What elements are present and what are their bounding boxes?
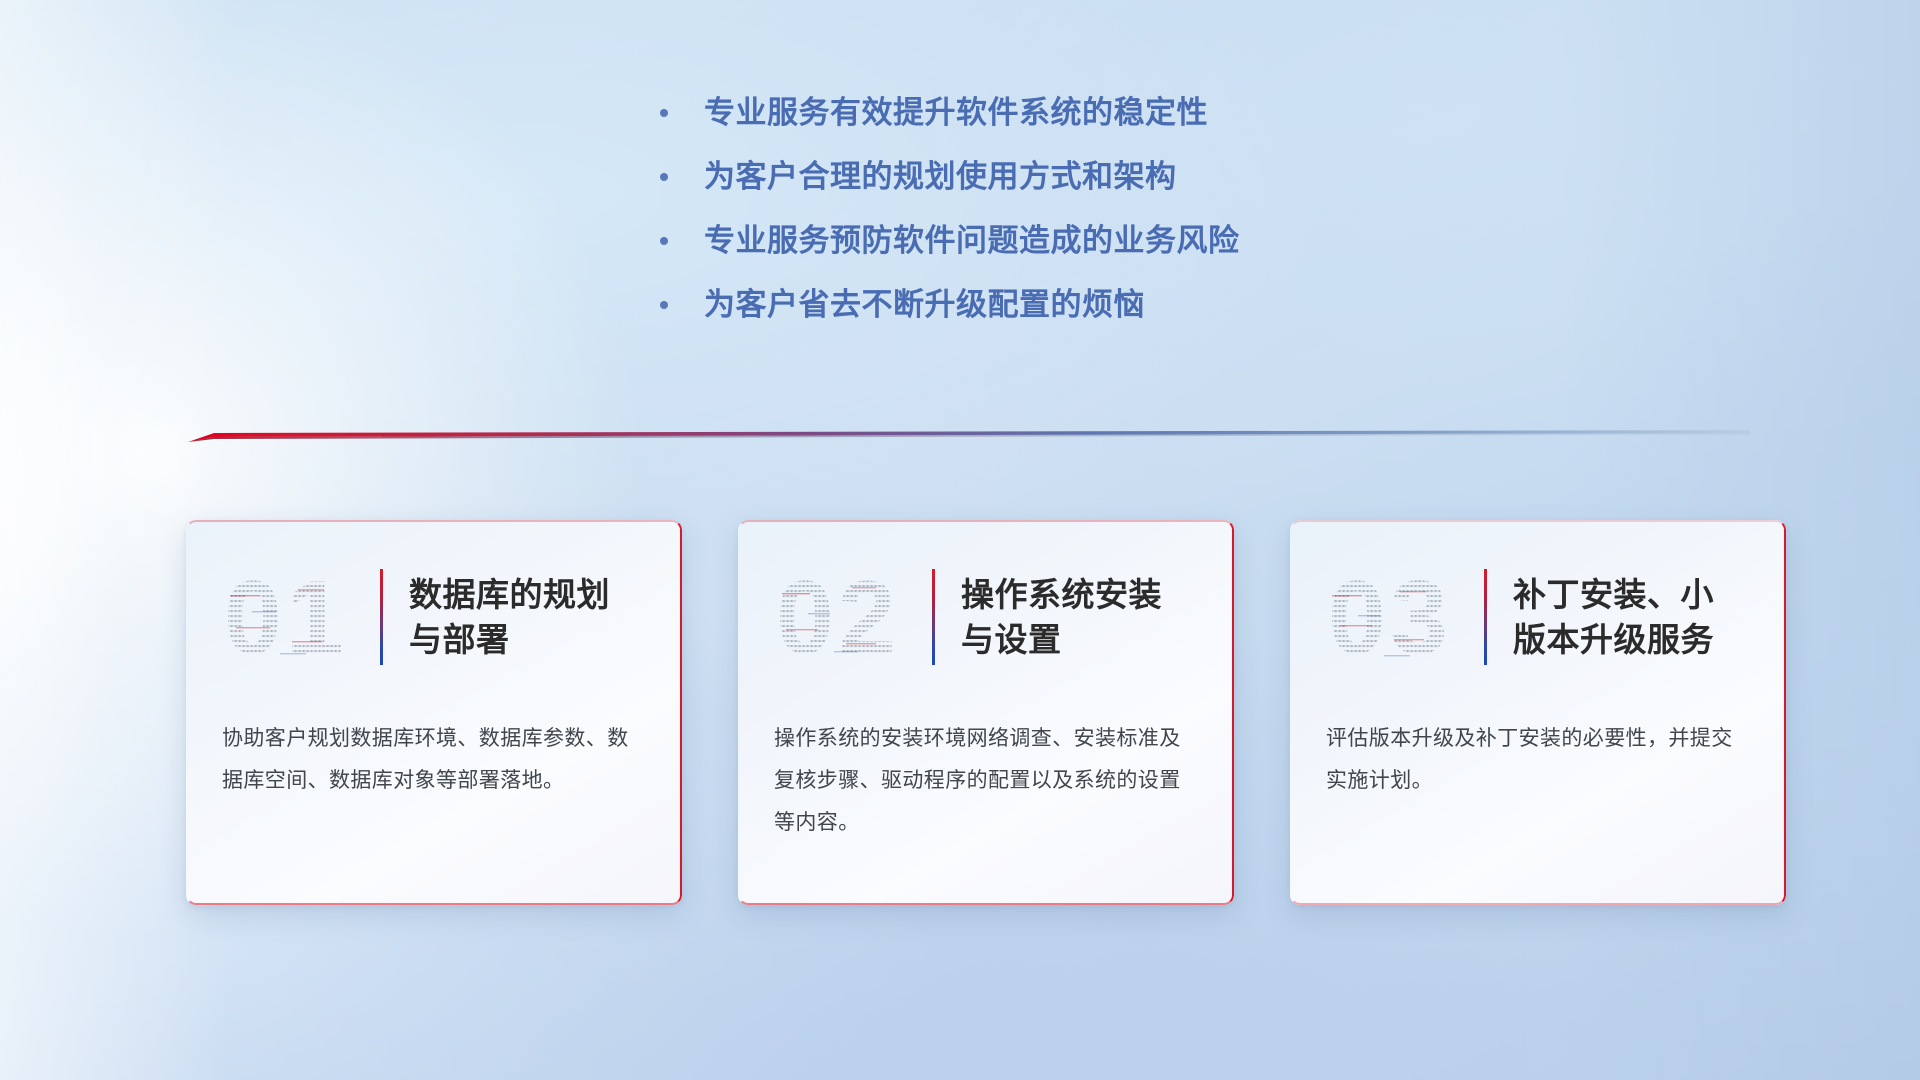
bullet-list: 专业服务有效提升软件系统的稳定性 为客户合理的规划使用方式和架构 专业服务预防软…	[660, 92, 1240, 348]
section-divider	[188, 428, 1750, 448]
feature-card-01[interactable]: 01 数据库的规划 与部署 协助客户规划数据库环境、数据库参数、数据库空间、数据…	[186, 520, 682, 905]
card-accent-bar	[1484, 569, 1487, 665]
divider-wedge-icon	[188, 428, 1750, 448]
card-title: 补丁安装、小 版本升级服务	[1513, 572, 1714, 662]
svg-text:02: 02	[776, 565, 900, 669]
card-title: 操作系统安装 与设置	[961, 572, 1162, 662]
bullet-dot-icon	[660, 301, 668, 309]
bullet-item: 专业服务有效提升软件系统的稳定性	[660, 92, 1240, 134]
card-body-text: 评估版本升级及补丁安装的必要性，并提交实施计划。	[1290, 670, 1786, 802]
card-body-text: 协助客户规划数据库环境、数据库参数、数据库空间、数据库对象等部署落地。	[186, 670, 682, 802]
ghost-number-01-icon: 01	[222, 565, 362, 669]
card-title: 数据库的规划 与部署	[409, 572, 610, 662]
card-title-line-1: 数据库的规划	[409, 572, 610, 617]
bullet-dot-icon	[660, 173, 668, 181]
bullet-label: 专业服务预防软件问题造成的业务风险	[704, 220, 1240, 262]
card-title-line-1: 操作系统安装	[961, 572, 1162, 617]
ghost-number-02-icon: 02	[774, 565, 914, 669]
card-header: 02 操作系统安装 与设置	[738, 520, 1234, 670]
bullet-dot-icon	[660, 237, 668, 245]
card-header: 03 补丁安装、小 版本升级服务	[1290, 520, 1786, 670]
bullet-item: 为客户省去不断升级配置的烦恼	[660, 284, 1240, 326]
card-accent-bar	[932, 569, 935, 665]
card-title-line-2: 版本升级服务	[1513, 617, 1714, 662]
card-title-line-1: 补丁安装、小	[1513, 572, 1714, 617]
card-title-line-2: 与部署	[409, 617, 610, 662]
bullet-item: 专业服务预防软件问题造成的业务风险	[660, 220, 1240, 262]
svg-text:03: 03	[1328, 565, 1452, 669]
ghost-number-03-icon: 03	[1326, 565, 1466, 669]
bullet-item: 为客户合理的规划使用方式和架构	[660, 156, 1240, 198]
feature-card-row: 01 数据库的规划 与部署 协助客户规划数据库环境、数据库参数、数据库空间、数据…	[186, 520, 1786, 905]
bullet-label: 专业服务有效提升软件系统的稳定性	[704, 92, 1208, 134]
card-title-line-2: 与设置	[961, 617, 1162, 662]
bullet-label: 为客户合理的规划使用方式和架构	[704, 156, 1177, 198]
feature-card-03[interactable]: 03 补丁安装、小 版本升级服务 评估版本升级及补丁安装的必要性，并提交实施计划…	[1290, 520, 1786, 905]
slide-canvas: 专业服务有效提升软件系统的稳定性 为客户合理的规划使用方式和架构 专业服务预防软…	[0, 0, 1920, 1080]
card-header: 01 数据库的规划 与部署	[186, 520, 682, 670]
card-body-text: 操作系统的安装环境网络调查、安装标准及复核步骤、驱动程序的配置以及系统的设置等内…	[738, 670, 1234, 844]
bullet-label: 为客户省去不断升级配置的烦恼	[704, 284, 1145, 326]
bullet-dot-icon	[660, 109, 668, 117]
feature-card-02[interactable]: 02 操作系统安装 与设置 操作系统的安装环境网络调查、安装标准及复核步骤、驱动…	[738, 520, 1234, 905]
card-accent-bar	[380, 569, 383, 665]
